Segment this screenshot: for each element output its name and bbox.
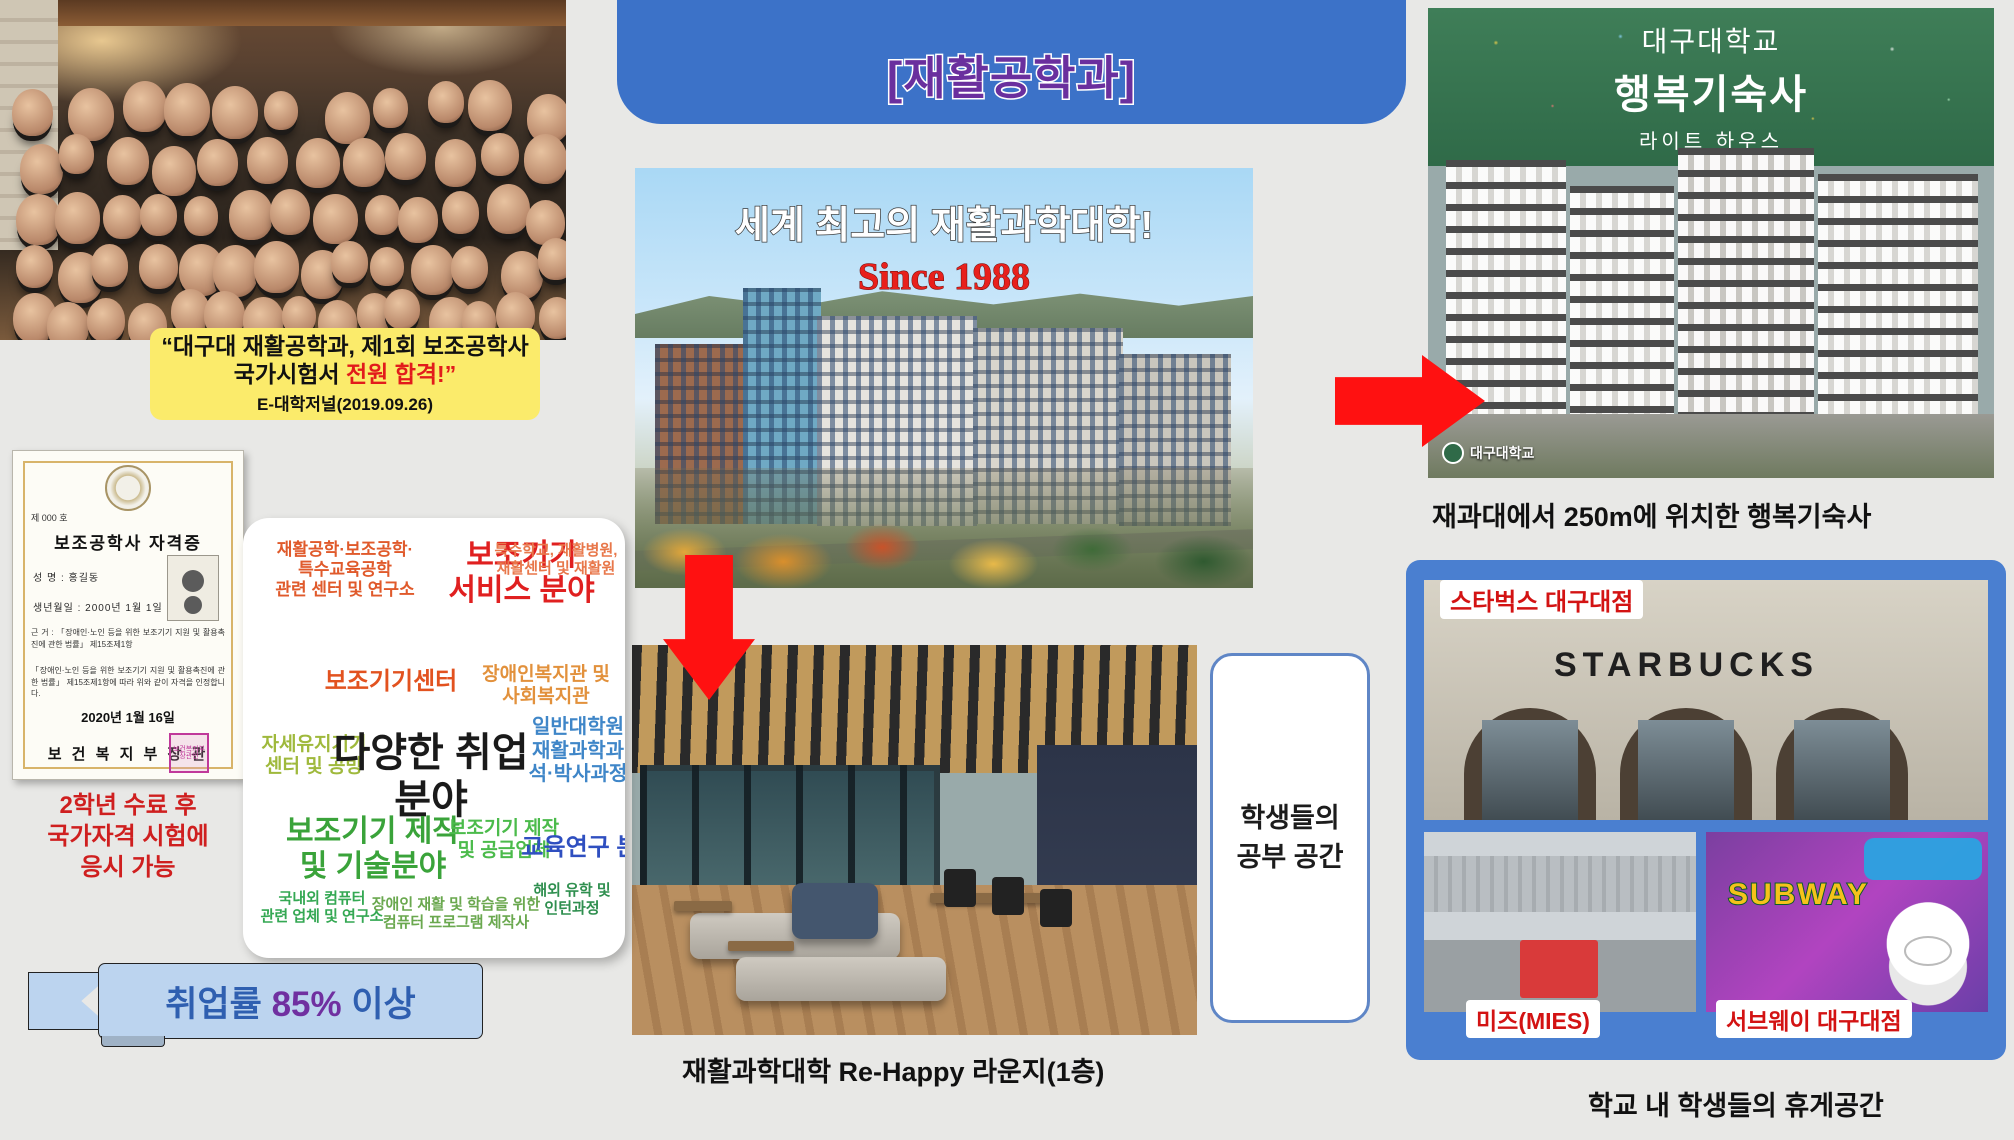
person-head	[197, 139, 238, 186]
person-head	[254, 241, 299, 292]
wordcloud-term: 교육연구 분야	[511, 834, 625, 862]
starbucks-sign: STARBUCKS	[1554, 646, 1819, 685]
person-head	[47, 302, 89, 341]
mies-label: 미즈(MIES)	[1466, 1000, 1600, 1038]
person-head	[184, 196, 218, 235]
person-head	[384, 289, 419, 329]
campus-slogan-line1: 세계 최고의 재활과학대학!	[635, 194, 1253, 249]
field-label: 생년월일	[33, 603, 74, 614]
wordcloud-term: 특수학교, 재활병원, 재활센터 및 재활원	[481, 542, 625, 577]
person-head	[373, 88, 408, 128]
person-head	[501, 251, 543, 299]
crowd-figures	[0, 0, 566, 340]
person-head	[91, 244, 128, 287]
speech-bubble	[1864, 838, 1982, 880]
person-head	[87, 298, 125, 340]
person-head	[229, 190, 272, 240]
campus-photo: 세계 최고의 재활과학대학! Since 1988	[635, 168, 1253, 588]
page-title: [재활공학과]	[887, 42, 1136, 108]
certificate-title: 보조공학사 자격증	[13, 529, 243, 554]
wordcloud-term: 해외 유학 및 인턴과정	[517, 882, 625, 917]
lounge-caption: 재활과학대학 Re-Happy 라운지(1층)	[682, 1050, 1104, 1089]
certificate-doc-no: 제 000 호	[31, 511, 68, 524]
news-quote-highlight: 전원 합격!”	[346, 361, 456, 387]
person-head	[539, 297, 566, 338]
person-head	[524, 134, 566, 184]
employment-rate-ribbon: 취업률 85% 이상	[28, 955, 483, 1047]
lounge-cushion	[792, 883, 878, 939]
mies-entrance	[1520, 940, 1598, 998]
starbucks-label: 스타벅스 대구대점	[1440, 580, 1643, 619]
group-photo	[0, 0, 566, 340]
news-source: E-대학저널(2019.09.26)	[257, 390, 433, 415]
campus-slogan: 세계 최고의 재활과학대학! Since 1988	[635, 194, 1253, 299]
person-head	[468, 80, 512, 130]
person-head	[140, 194, 177, 236]
dormitory-photo: 대구대학교 행복기숙사 라이트 하우스 대구대학교	[1428, 8, 1994, 478]
lounge-side-table	[728, 941, 794, 951]
storefront-glass	[1638, 720, 1734, 820]
university-crest-label: 대구대학교	[1470, 443, 1534, 463]
person-head	[247, 137, 288, 184]
person-head	[385, 133, 426, 180]
career-wordcloud-card: 재활공학·보조공학· 특수교육공학 관련 센터 및 연구소보조기기 서비스 분야…	[243, 518, 625, 958]
employment-rate-text: 취업률 85% 이상	[165, 976, 416, 1027]
university-crest-icon	[1442, 442, 1464, 464]
ribbon-body: 취업률 85% 이상	[98, 963, 483, 1039]
mies-roof	[1424, 856, 1696, 912]
person-head	[12, 89, 53, 136]
subway-photo: SUBWAY	[1706, 832, 1988, 1012]
person-head	[123, 81, 167, 132]
person-head	[538, 238, 566, 280]
dorm-tower	[1678, 148, 1814, 422]
person-head	[451, 246, 488, 289]
lounge-chair	[944, 869, 976, 907]
person-head	[435, 139, 476, 186]
campus-slogan-line2: Since 1988	[635, 255, 1253, 299]
certificate-field-birth: 생년월일 : 2000년 1월 1일	[33, 599, 163, 614]
person-head	[55, 192, 100, 244]
dorm-tower	[1446, 160, 1566, 422]
news-quote-line2: 국가시험서 전원 합격!”	[234, 361, 456, 388]
person-head	[411, 245, 455, 295]
lounge-photo	[632, 645, 1197, 1035]
study-space-line2: 공부 공간	[1237, 838, 1344, 877]
person-head	[331, 241, 367, 283]
university-crest: 대구대학교	[1442, 442, 1534, 464]
person-head	[343, 138, 386, 187]
lounge-sofa	[736, 957, 946, 1001]
field-value: 홍길동	[69, 573, 100, 584]
lounge-side-table	[674, 901, 732, 911]
subway-sign: SUBWAY	[1728, 878, 1869, 912]
person-head	[365, 195, 400, 235]
person-head	[296, 138, 340, 189]
slide-title-banner: [재활공학과]	[617, 0, 1406, 124]
person-head	[487, 184, 530, 234]
certificate-field-basis: 근 거 : 「장애인·노인 등을 위한 보조기기 지원 및 활용촉진에 관한 법…	[31, 627, 225, 650]
person-head	[325, 92, 370, 144]
employment-rate-prefix: 취업률	[165, 985, 271, 1024]
person-head	[164, 83, 210, 136]
person-head	[107, 137, 149, 185]
tiger-mascot-icon	[1880, 902, 1976, 1006]
employment-rate-suffix: 이상	[342, 985, 416, 1024]
wordcloud-term: 재활공학·보조공학· 특수교육공학 관련 센터 및 연구소	[255, 540, 435, 600]
certificate-blurb: 「장애인·노인 등을 위한 보조기기 지원 및 활용촉진에 관한 법률」 제15…	[31, 665, 225, 700]
news-quote-line1: “대구대 재활공학과, 제1회 보조공학사	[161, 333, 528, 360]
mies-photo	[1424, 832, 1696, 1012]
storefront-glass	[1482, 720, 1578, 820]
lounge-chair	[992, 877, 1024, 915]
confetti-decoration	[1428, 8, 1994, 166]
wordcloud-term: 보조기기센터	[301, 668, 481, 696]
person-head	[103, 195, 142, 240]
field-label: 근 거	[31, 628, 49, 637]
person-head	[20, 144, 64, 194]
storefront-glass	[1794, 720, 1890, 820]
study-space-card: 학생들의 공부 공간	[1210, 653, 1370, 1023]
certificate-note: 2학년 수료 후 국가자격 시험에 응시 가능	[12, 790, 244, 884]
official-stamp-icon: 보건복지부장관인	[169, 733, 209, 773]
field-label: 성 명	[33, 573, 57, 584]
dorm-tower	[1818, 174, 1978, 422]
government-emblem-icon	[105, 465, 151, 511]
study-space-text: 학생들의 공부 공간	[1237, 799, 1344, 877]
person-head	[370, 247, 405, 287]
person-head	[152, 146, 195, 196]
certificate-date: 2020년 1월 16일	[13, 707, 243, 726]
dormitory-caption: 재과대에서 250m에 위치한 행복기숙사	[1432, 495, 1871, 534]
person-head	[139, 244, 178, 289]
certificate-image: 제 000 호 보조공학사 자격증 성 명 : 홍길동 생년월일 : 2000년…	[12, 450, 244, 780]
dorm-tower	[1570, 186, 1674, 422]
wordcloud-term: 다양한 취업 분야	[331, 730, 531, 824]
person-head	[398, 197, 437, 242]
field-value: 「장애인·노인 등을 위한 보조기기 지원 및 활용촉진에 관한 법률」 제15…	[31, 628, 225, 649]
certificate-photo	[167, 555, 219, 621]
subway-label: 서브웨이 대구대점	[1716, 1000, 1912, 1038]
person-head	[212, 86, 258, 139]
person-head	[428, 81, 464, 123]
news-quote-line2-prefix: 국가시험서	[234, 361, 346, 387]
lounge-chair	[1040, 889, 1072, 927]
certificate-field-name: 성 명 : 홍길동	[33, 569, 99, 584]
study-space-line1: 학생들의	[1237, 799, 1344, 838]
rest-area-caption: 학교 내 학생들의 휴게공간	[1588, 1084, 1884, 1123]
employment-rate-value: 85%	[272, 985, 342, 1024]
person-head	[313, 194, 357, 245]
person-head	[270, 189, 310, 235]
person-head	[213, 245, 258, 297]
slide-canvas: [재활공학과] “대구대 재활공학과, 제1회 보조공학사 국가시험서 전원 합…	[0, 0, 2014, 1140]
person-head	[16, 245, 53, 288]
wordcloud-term: 일반대학원 재활과학과 석·박사과정	[523, 716, 625, 787]
dormitory-banner: 대구대학교 행복기숙사 라이트 하우스	[1428, 8, 1994, 166]
person-head	[481, 133, 519, 176]
person-head	[442, 191, 479, 234]
person-head	[68, 88, 114, 141]
person-head	[264, 91, 298, 131]
wordcloud-term: 장애인복지관 및 사회복지관	[471, 664, 621, 709]
news-quote-box: “대구대 재활공학과, 제1회 보조공학사 국가시험서 전원 합격!” E-대학…	[150, 328, 540, 420]
person-head	[59, 134, 93, 174]
field-value: 2000년 1월 1일	[85, 603, 163, 614]
